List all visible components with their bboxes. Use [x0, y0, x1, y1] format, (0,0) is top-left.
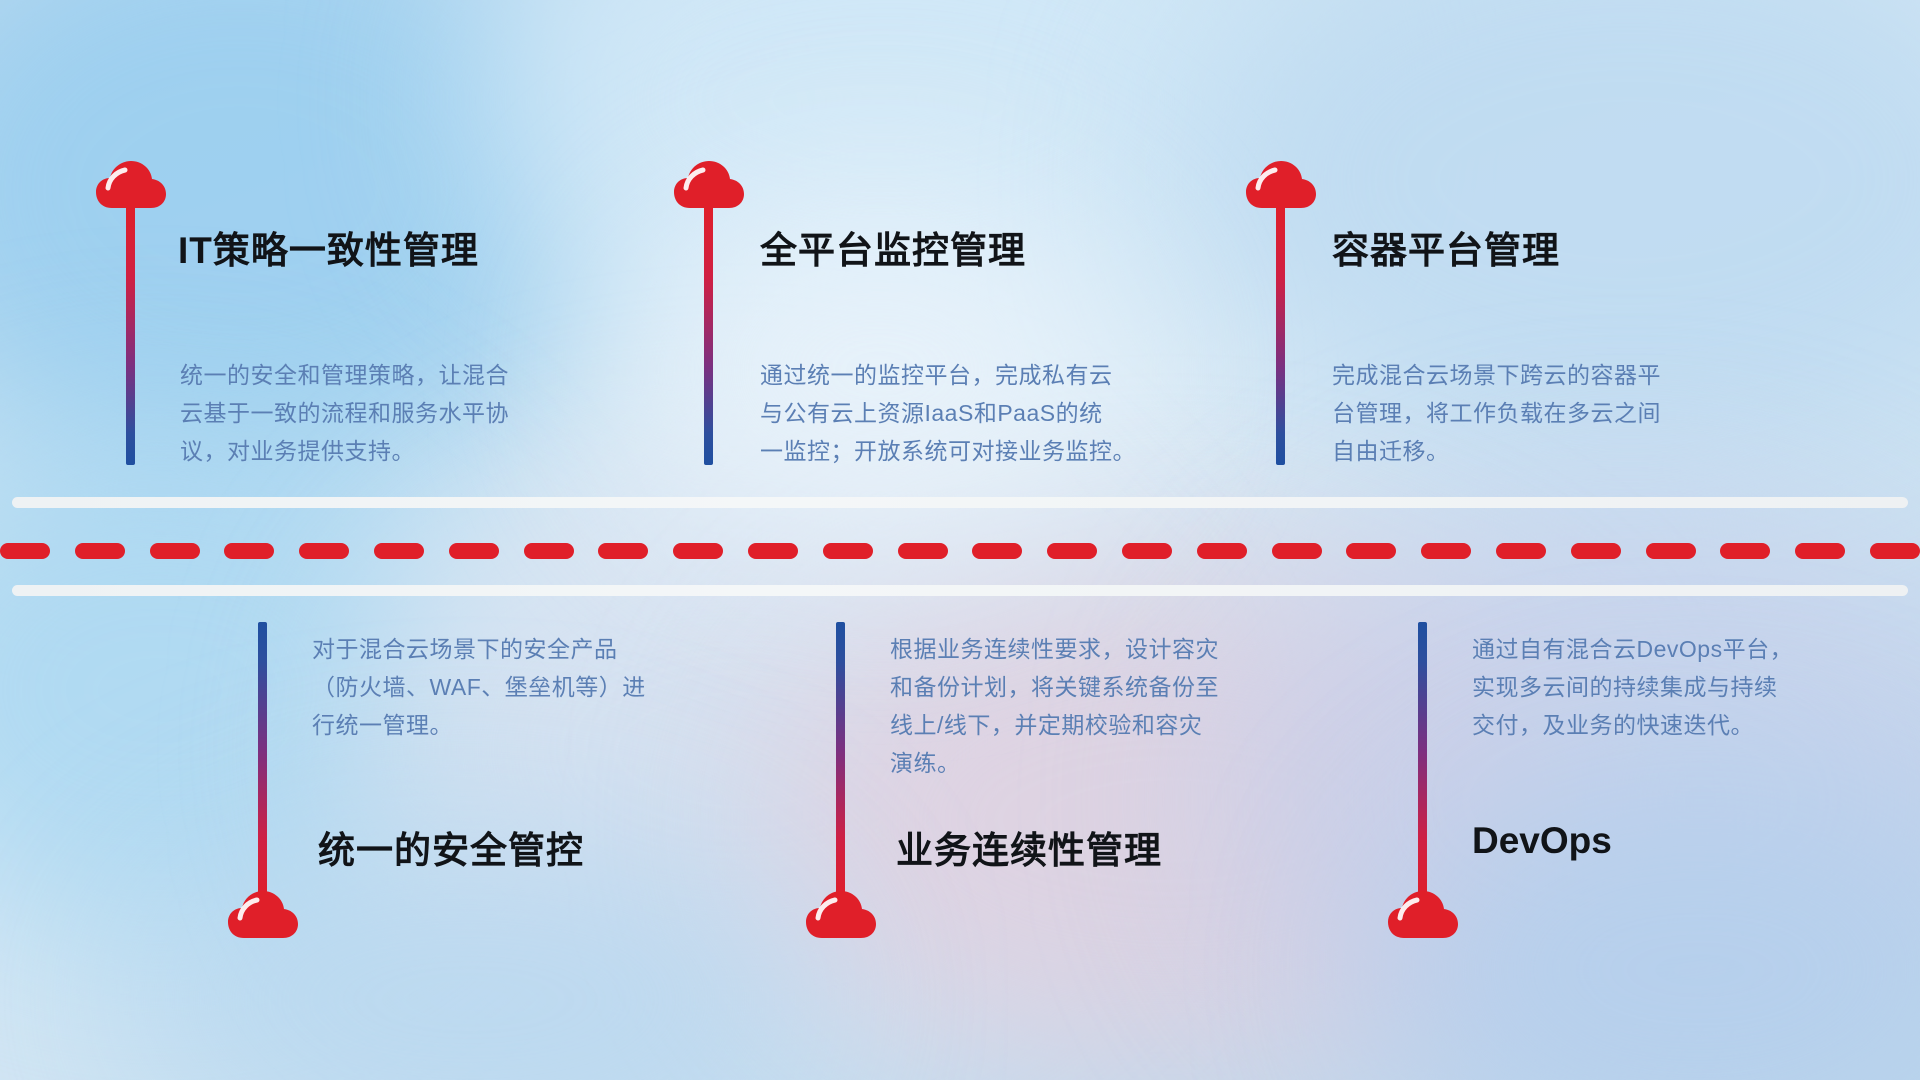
divider-dash — [75, 543, 125, 559]
card-body: 根据业务连续性要求，设计容灾 和备份计划，将关键系统备份至 线上/线下，并定期校… — [890, 630, 1330, 782]
divider-dash — [1122, 543, 1172, 559]
connector-line — [1276, 205, 1285, 465]
card-body: 通过自有混合云DevOps平台， 实现多云间的持续集成与持续 交付，及业务的快速… — [1472, 630, 1902, 744]
divider-dash — [598, 543, 648, 559]
divider-dash — [823, 543, 873, 559]
divider-bar-top — [12, 497, 1908, 508]
card-title: 业务连续性管理 — [896, 820, 1162, 874]
connector-line — [836, 622, 845, 902]
connector-line — [126, 205, 135, 465]
card-title: 统一的安全管控 — [318, 820, 584, 874]
card-title: 容器平台管理 — [1332, 220, 1560, 274]
infographic-canvas: IT策略一致性管理 统一的安全和管理策略，让混合 云基于一致的流程和服务水平协 … — [0, 0, 1920, 1080]
cloud-icon — [1386, 888, 1460, 946]
divider-dash — [1870, 543, 1920, 559]
divider-dash — [1197, 543, 1247, 559]
divider-bar-bottom — [12, 585, 1908, 596]
card-body: 通过统一的监控平台，完成私有云 与公有云上资源IaaS和PaaS的统 一监控；开… — [760, 356, 1230, 470]
divider-dash — [1646, 543, 1696, 559]
divider-dash — [0, 543, 50, 559]
divider-dash — [224, 543, 274, 559]
cloud-icon — [804, 888, 878, 946]
divider-dash — [673, 543, 723, 559]
connector-line — [258, 622, 267, 902]
divider-dash — [1571, 543, 1621, 559]
card-body: 统一的安全和管理策略，让混合 云基于一致的流程和服务水平协 议，对业务提供支持。 — [180, 356, 610, 470]
divider-dash — [748, 543, 798, 559]
divider-dash — [1272, 543, 1322, 559]
divider-dash — [449, 543, 499, 559]
divider-dash — [1496, 543, 1546, 559]
divider-dash — [1795, 543, 1845, 559]
card-title: DevOps — [1472, 820, 1612, 862]
divider-dash — [1421, 543, 1471, 559]
divider-dash — [524, 543, 574, 559]
card-body: 完成混合云场景下跨云的容器平 台管理，将工作负载在多云之间 自由迁移。 — [1332, 356, 1772, 470]
divider-dash — [150, 543, 200, 559]
divider-dash — [898, 543, 948, 559]
divider-dash — [1047, 543, 1097, 559]
connector-line — [704, 205, 713, 465]
card-body: 对于混合云场景下的安全产品 （防火墙、WAF、堡垒机等）进 行统一管理。 — [312, 630, 742, 744]
divider-dashed-line — [0, 543, 1920, 559]
divider-dash — [972, 543, 1022, 559]
divider-dash — [1346, 543, 1396, 559]
card-title: 全平台监控管理 — [760, 220, 1026, 274]
card-title: IT策略一致性管理 — [178, 220, 479, 274]
divider-dash — [299, 543, 349, 559]
connector-line — [1418, 622, 1427, 902]
divider-dash — [374, 543, 424, 559]
divider-dash — [1720, 543, 1770, 559]
cloud-icon — [226, 888, 300, 946]
